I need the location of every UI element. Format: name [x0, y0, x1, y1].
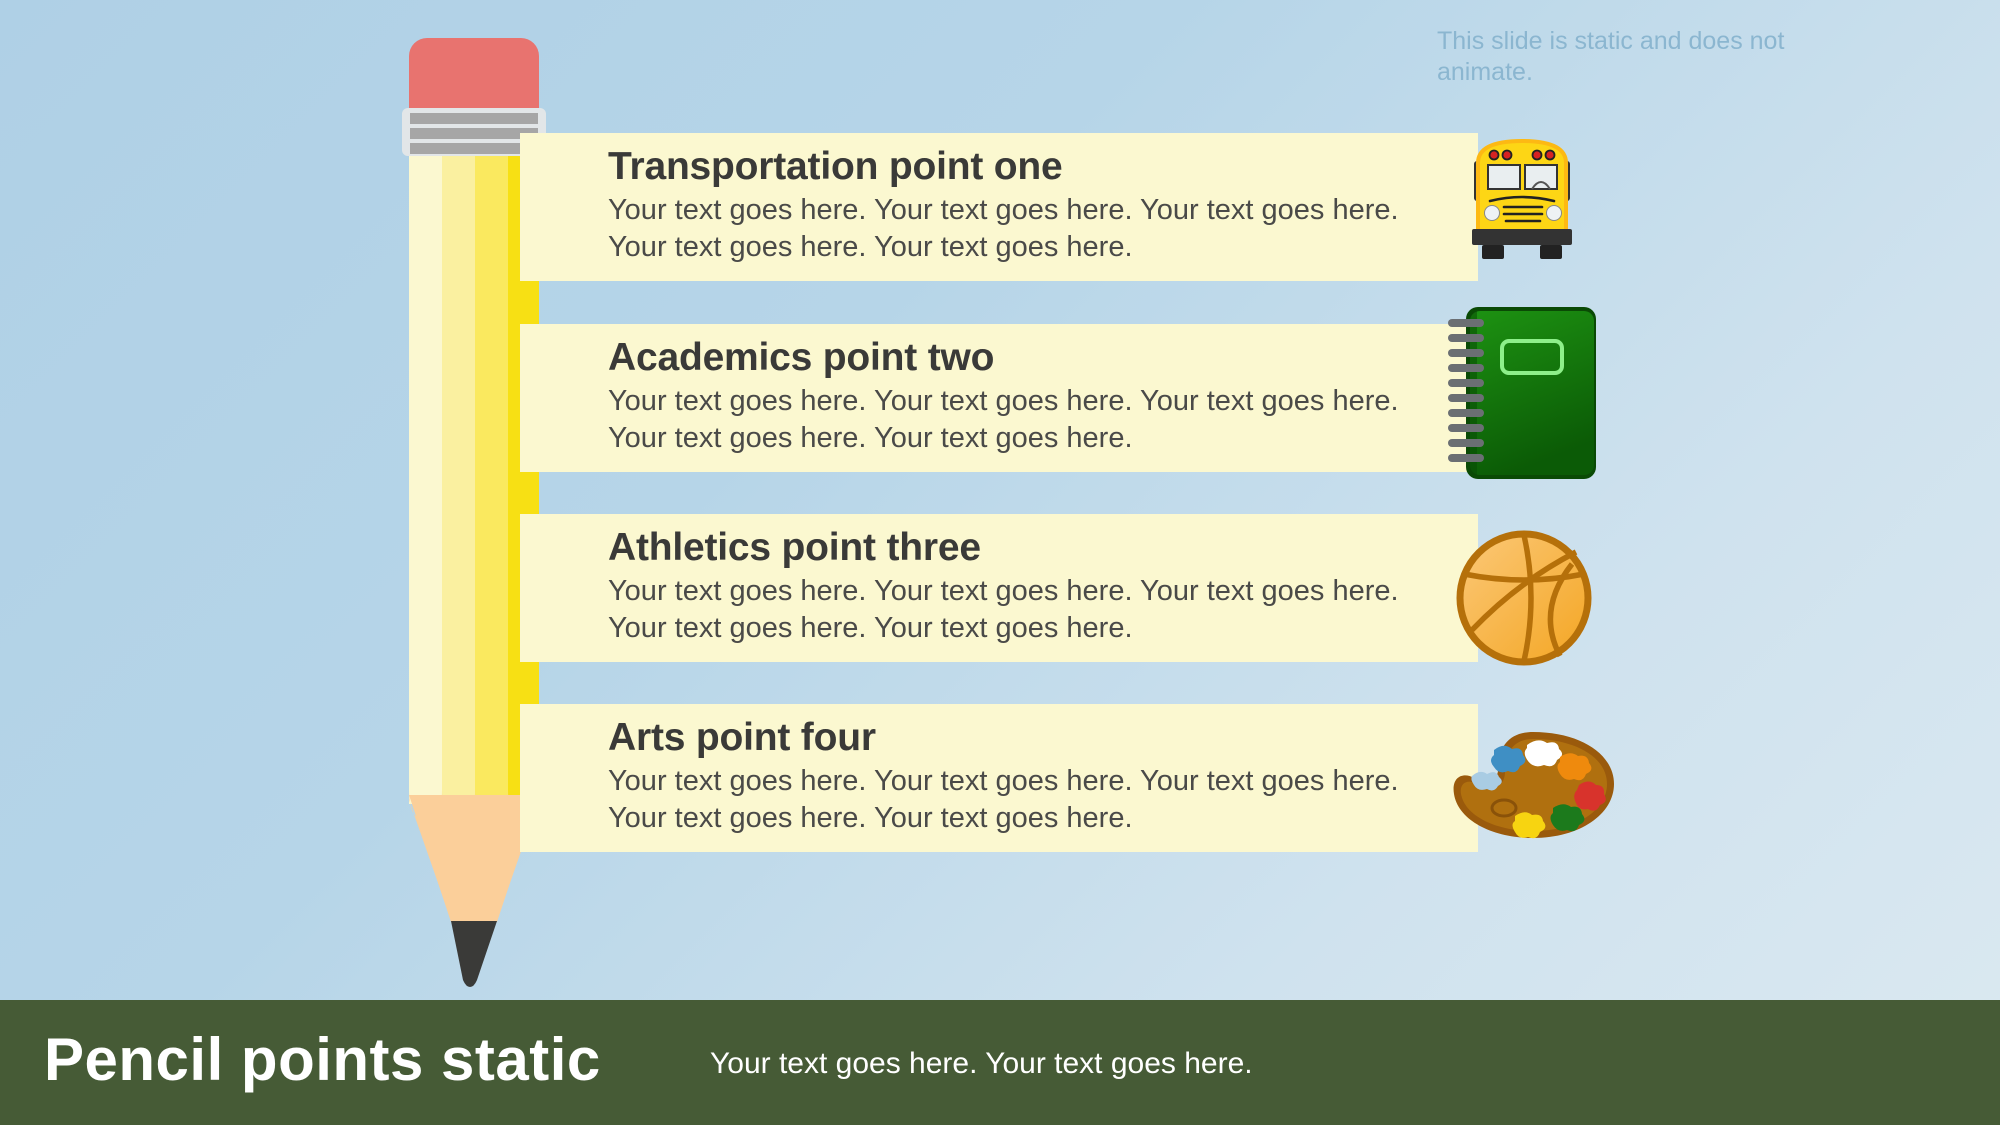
point-band-academics[interactable]: Academics point two Your text goes here.…: [520, 324, 1478, 472]
point-body-transportation: Your text goes here. Your text goes here…: [608, 192, 1438, 266]
pencil-barrel-stripe-2: [442, 156, 475, 804]
slide-subtitle: Your text goes here. Your text goes here…: [710, 1049, 1253, 1079]
point-heading-academics: Academics point two: [608, 338, 1468, 377]
point-band-athletics[interactable]: Athletics point three Your text goes her…: [520, 514, 1478, 662]
footer-bar: Pencil points static Your text goes here…: [0, 1000, 2000, 1125]
palette-thumb-hole: [1492, 800, 1516, 816]
band-arrow-tip: [520, 704, 589, 852]
pencil-graphite-tip: [451, 921, 497, 987]
point-heading-athletics: Athletics point three: [608, 528, 1468, 567]
school-bus-icon: [1452, 133, 1592, 265]
point-band-arts[interactable]: Arts point four Your text goes here. You…: [520, 704, 1478, 852]
point-heading-transportation: Transportation point one: [608, 147, 1468, 186]
slide-canvas: This slide is static and does not animat…: [0, 0, 2000, 1125]
pencil-eraser: [409, 38, 539, 118]
art-palette-icon: [1448, 728, 1618, 844]
point-body-academics: Your text goes here. Your text goes here…: [608, 383, 1438, 457]
band-arrow-tip: [520, 133, 589, 281]
slide-title: Pencil points static: [44, 1030, 601, 1090]
pencil-barrel-stripe-1: [409, 156, 442, 804]
band-arrow-tip: [520, 324, 589, 472]
band-text-block: Transportation point one Your text goes …: [608, 133, 1468, 295]
band-text-block: Athletics point three Your text goes her…: [608, 514, 1468, 676]
pencil-barrel-stripe-3: [475, 156, 508, 804]
point-heading-arts: Arts point four: [608, 718, 1468, 757]
band-text-block: Academics point two Your text goes here.…: [608, 324, 1468, 486]
spiral-notebook-icon: [1448, 303, 1600, 483]
band-arrow-tip: [520, 514, 589, 662]
band-text-block: Arts point four Your text goes here. You…: [608, 704, 1468, 866]
point-body-arts: Your text goes here. Your text goes here…: [608, 763, 1438, 837]
point-band-transportation[interactable]: Transportation point one Your text goes …: [520, 133, 1478, 281]
basketball-icon: [1456, 530, 1592, 666]
point-body-athletics: Your text goes here. Your text goes here…: [608, 573, 1438, 647]
static-slide-note: This slide is static and does not animat…: [1437, 26, 1857, 87]
